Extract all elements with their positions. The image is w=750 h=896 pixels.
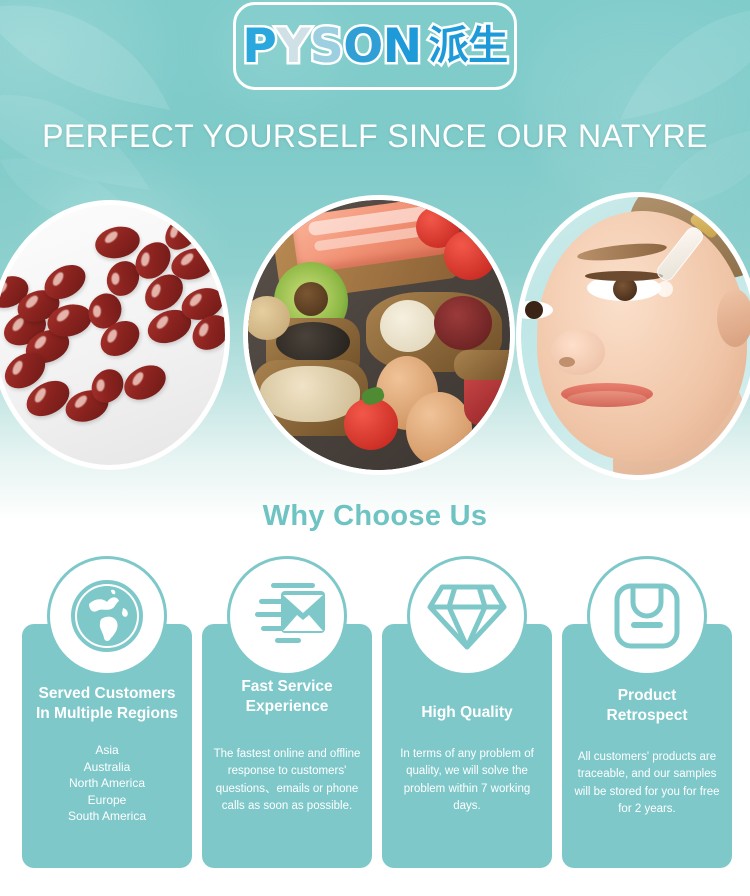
logo-letter-p: P bbox=[242, 23, 276, 70]
feature-card-fast-service[interactable]: Fast Service Experience The fastest onli… bbox=[202, 556, 372, 868]
globe-icon bbox=[69, 578, 145, 654]
leaf-texture-icon bbox=[550, 0, 750, 220]
feature-card-icon-ring bbox=[587, 556, 707, 676]
diamond-icon bbox=[426, 579, 508, 653]
logo-letter-s: S bbox=[310, 23, 343, 70]
feature-card-icon-ring bbox=[47, 556, 167, 676]
feature-card-product-retrospect[interactable]: Product Retrospect All customers' produc… bbox=[562, 556, 732, 868]
feature-card-description: All customers' products are traceable, a… bbox=[572, 749, 722, 818]
gallery-image-healthy-foods bbox=[243, 195, 515, 475]
section-heading: Why Choose Us bbox=[0, 500, 750, 533]
feature-card-list: Served Customers In Multiple Regions Asi… bbox=[0, 556, 750, 876]
region-item: South America bbox=[32, 808, 182, 825]
feature-card-title-line: Product bbox=[570, 686, 724, 706]
healthy-foods-photo bbox=[248, 200, 510, 470]
brand-logo[interactable]: P Y S O N 派生 bbox=[233, 2, 517, 90]
region-item: Australia bbox=[32, 759, 182, 776]
gallery-image-skincare-clip bbox=[521, 197, 750, 475]
product-bag-icon bbox=[611, 580, 683, 652]
logo-letter-o: O bbox=[343, 23, 382, 70]
region-item: North America bbox=[32, 775, 182, 792]
gallery-image-capsules bbox=[0, 200, 230, 470]
gallery-image-capsules-clip bbox=[0, 205, 225, 465]
feature-card-high-quality[interactable]: High Quality In terms of any problem of … bbox=[382, 556, 552, 868]
feature-card-title-line: High Quality bbox=[390, 703, 544, 723]
logo-letter-y: Y bbox=[276, 23, 310, 70]
page-root: P Y S O N 派生 PERFECT YOURSELF SINCE OUR … bbox=[0, 0, 750, 896]
feature-card-title-line: In Multiple Regions bbox=[30, 704, 184, 724]
feature-card-icon-ring bbox=[407, 556, 527, 676]
skincare-photo bbox=[521, 197, 750, 475]
feature-card-region-list: Asia Australia North America Europe Sout… bbox=[32, 742, 182, 825]
feature-card-title: Fast Service Experience bbox=[210, 677, 364, 718]
logo-letter-n: N bbox=[383, 23, 422, 70]
region-item: Asia bbox=[32, 742, 182, 759]
feature-card-description: In terms of any problem of quality, we w… bbox=[392, 746, 542, 815]
region-item: Europe bbox=[32, 792, 182, 809]
gallery-image-skincare bbox=[516, 192, 750, 480]
feature-card-title-line: Served Customers bbox=[30, 684, 184, 704]
logo-chinese-text: 派生 bbox=[429, 26, 508, 66]
feature-card-title-line: Retrospect bbox=[570, 706, 724, 726]
hero-tagline: PERFECT YOURSELF SINCE OUR NATYRE bbox=[0, 118, 750, 155]
feature-card-title: High Quality bbox=[390, 703, 544, 723]
email-speed-icon bbox=[245, 579, 329, 653]
feature-card-title: Product Retrospect bbox=[570, 686, 724, 727]
feature-card-served-customers[interactable]: Served Customers In Multiple Regions Asi… bbox=[22, 556, 192, 868]
brand-logo-wordmark: P Y S O N 派生 bbox=[242, 23, 507, 70]
capsules-photo bbox=[0, 205, 225, 465]
feature-card-title-line: Experience bbox=[210, 697, 364, 717]
feature-card-description: The fastest online and offline response … bbox=[212, 746, 362, 815]
feature-card-title: Served Customers In Multiple Regions bbox=[30, 684, 184, 725]
feature-card-title-line: Fast Service bbox=[210, 677, 364, 697]
feature-card-icon-ring bbox=[227, 556, 347, 676]
gallery-image-healthy-foods-clip bbox=[248, 200, 510, 470]
